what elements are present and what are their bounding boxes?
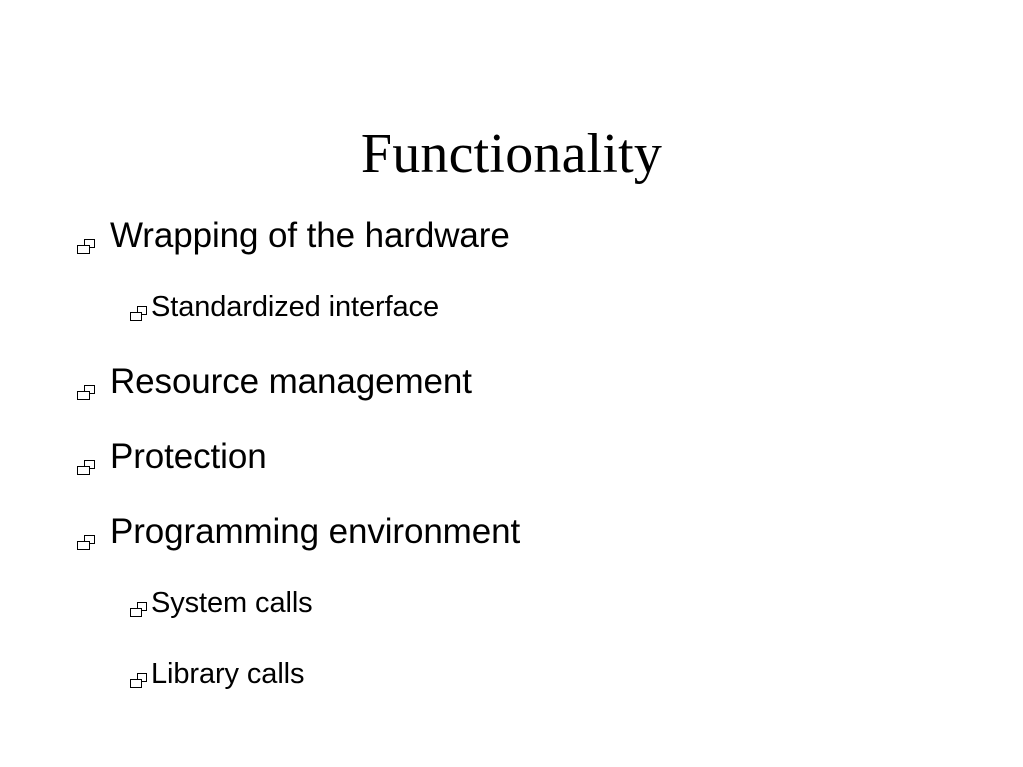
cascading-windows-icon: [77, 460, 95, 475]
cascading-windows-icon: [130, 602, 147, 617]
cascading-windows-icon: [130, 673, 147, 688]
bullet-text: Resource management: [110, 359, 472, 405]
bullet-text: Programming environment: [110, 509, 520, 555]
bullet-item-level1: Protection: [0, 434, 1023, 509]
cascading-windows-icon: [77, 385, 95, 400]
presentation-slide: Functionality Wrapping of the hardware S…: [0, 0, 1023, 767]
slide-title: Functionality: [0, 124, 1023, 184]
bullet-item-level1: Wrapping of the hardware: [0, 213, 1023, 288]
bullet-item-level2: System calls: [0, 584, 1023, 655]
bullet-text: Library calls: [151, 655, 304, 694]
slide-body-bullet-list: Wrapping of the hardware Standardized in…: [0, 213, 1023, 726]
bullet-item-level1: Programming environment: [0, 509, 1023, 584]
bullet-text: Protection: [110, 434, 267, 480]
bullet-item-level1: Resource management: [0, 359, 1023, 434]
bullet-item-level2: Standardized interface: [0, 288, 1023, 359]
cascading-windows-icon: [77, 239, 95, 254]
bullet-item-level2: Library calls: [0, 655, 1023, 726]
cascading-windows-icon: [130, 306, 147, 321]
bullet-text: System calls: [151, 584, 313, 623]
bullet-text: Standardized interface: [151, 288, 439, 327]
bullet-text: Wrapping of the hardware: [110, 213, 510, 259]
cascading-windows-icon: [77, 535, 95, 550]
